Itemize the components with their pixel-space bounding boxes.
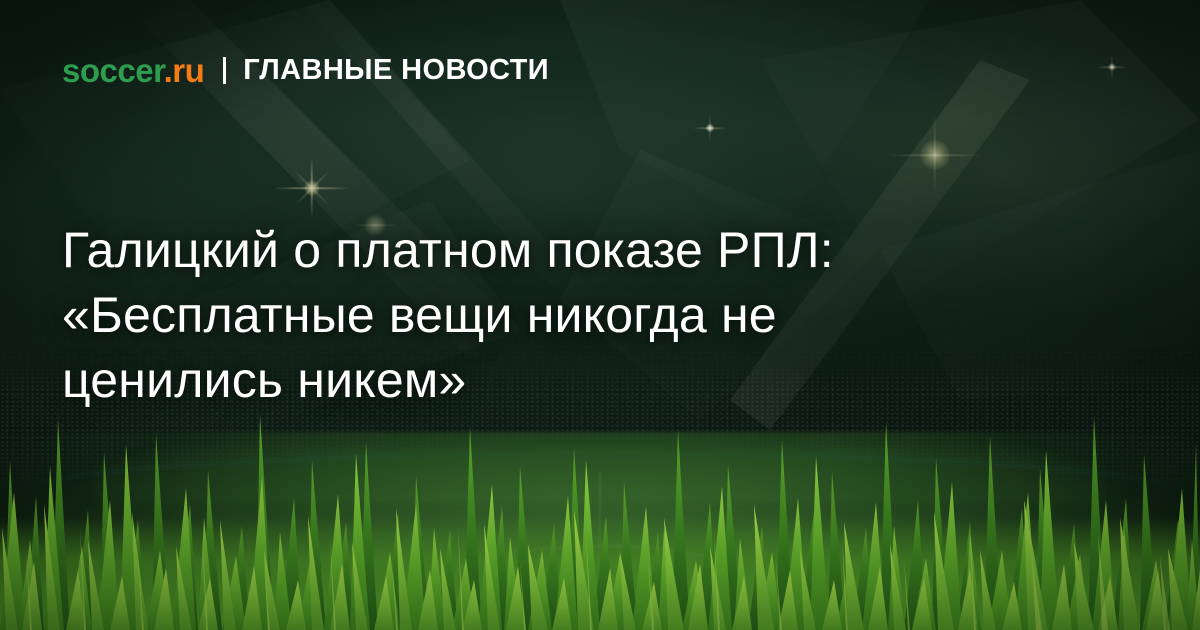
site-logo[interactable]: soccer.ru [62,54,204,87]
foreground-grass [0,400,1200,630]
headline-line-3: ценились никем» [62,348,1072,413]
share-card: soccer.ru ГЛАВНЫЕ НОВОСТИ Галицкий о пла… [0,0,1200,630]
headline-line-2: «Бесплатные вещи никогда не [62,283,1072,348]
header-title: ГЛАВНЫЕ НОВОСТИ [243,56,549,85]
logo-word: soccer [62,52,164,89]
headline-line-1: Галицкий о платном показе РПЛ: [62,218,1072,283]
site-header: soccer.ru ГЛАВНЫЕ НОВОСТИ [62,50,549,90]
headline: Галицкий о платном показе РПЛ: «Бесплатн… [62,218,1072,413]
logo-tld: .ru [164,52,205,89]
header-separator [223,57,226,84]
